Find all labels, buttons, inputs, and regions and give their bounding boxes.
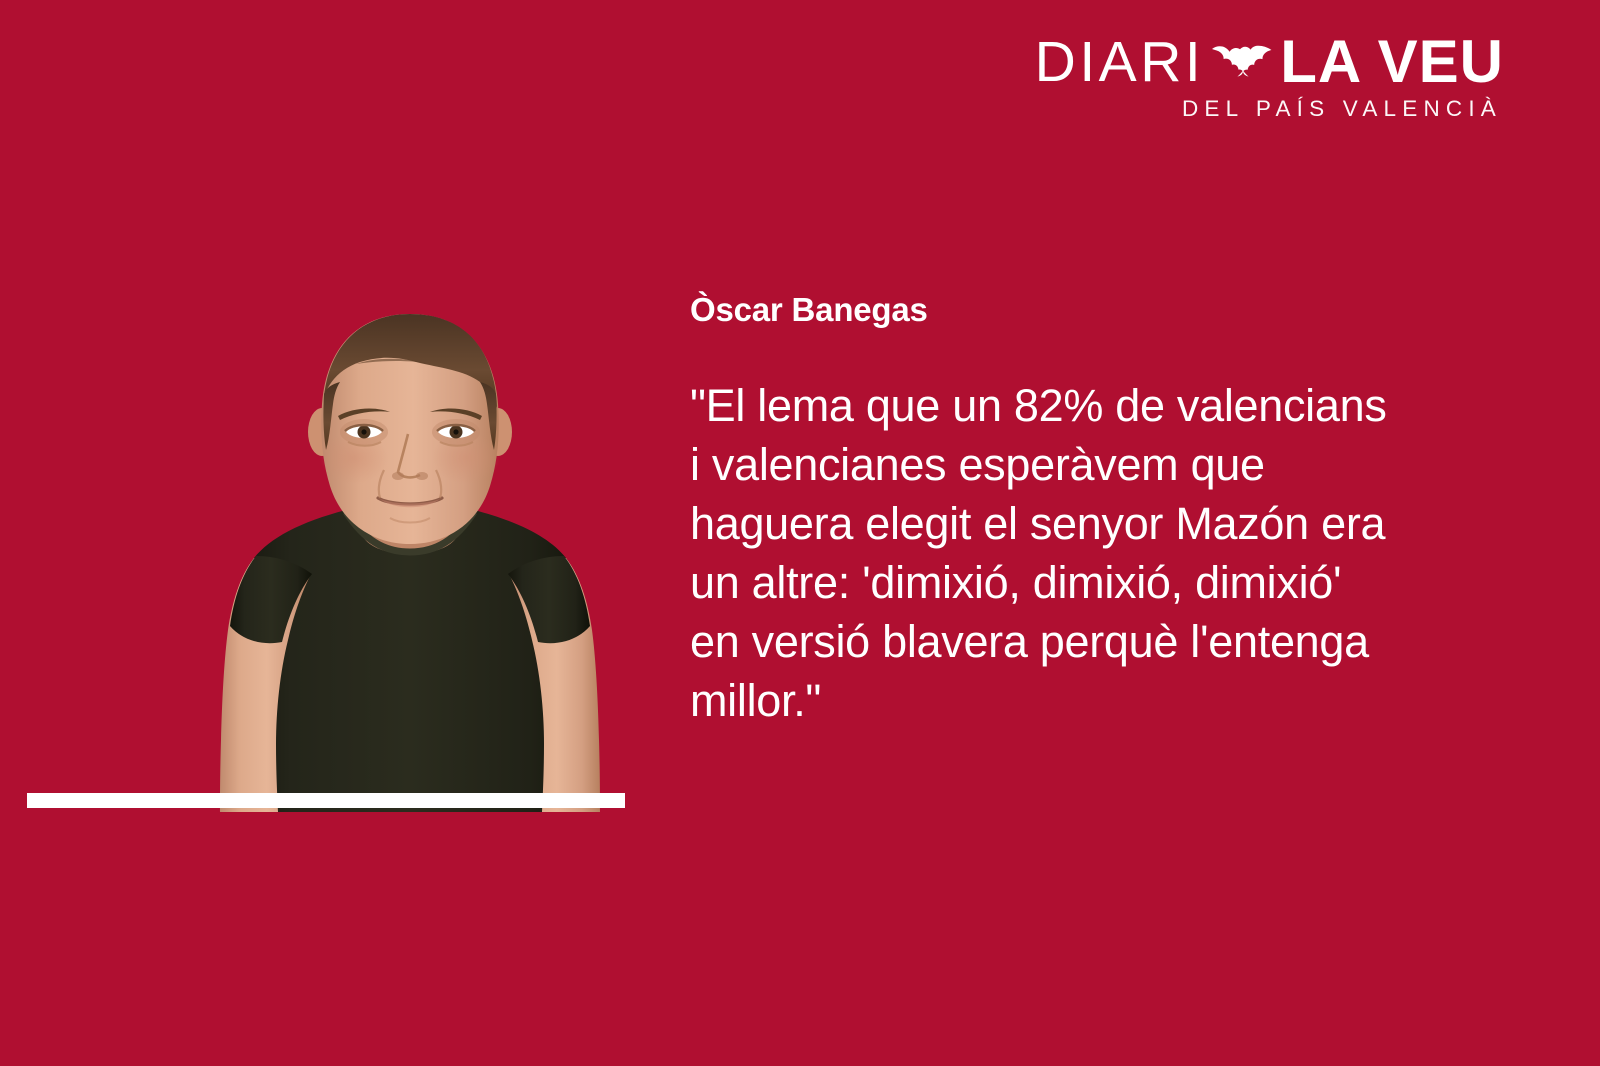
quote-line: i valencianes esperàvem que: [690, 435, 1510, 494]
speaker-name: Òscar Banegas: [690, 292, 1510, 328]
logo-word-laveu: LA VEU: [1280, 32, 1504, 92]
bat-icon: [1210, 37, 1276, 87]
divider-rule: [27, 793, 625, 808]
logo-tagline: DEL PAÍS VALENCIÀ: [1035, 96, 1504, 122]
portrait-photo: [150, 300, 670, 820]
quote-line: haguera elegit el senyor Mazón era: [690, 494, 1510, 553]
portrait-container: [150, 300, 670, 820]
logo-word-diari: DIARI: [1035, 34, 1205, 91]
text-block: Òscar Banegas "El lema que un 82% de val…: [690, 292, 1510, 730]
quote-text: "El lema que un 82% de valencians i vale…: [690, 376, 1510, 730]
site-logo[interactable]: DIARI LA VEU DEL PAÍS VALENCIÀ: [1035, 33, 1504, 122]
quote-line: en versió blavera perquè l'entenga: [690, 612, 1510, 671]
quote-line: millor.": [690, 671, 1510, 730]
quote-card: DIARI LA VEU DEL PAÍS VALENCIÀ: [0, 0, 1600, 1066]
quote-line: "El lema que un 82% de valencians: [690, 376, 1510, 435]
logo-wordmark: DIARI LA VEU: [1035, 33, 1504, 91]
quote-line: un altre: 'dimixió, dimixió, dimixió': [690, 553, 1510, 612]
